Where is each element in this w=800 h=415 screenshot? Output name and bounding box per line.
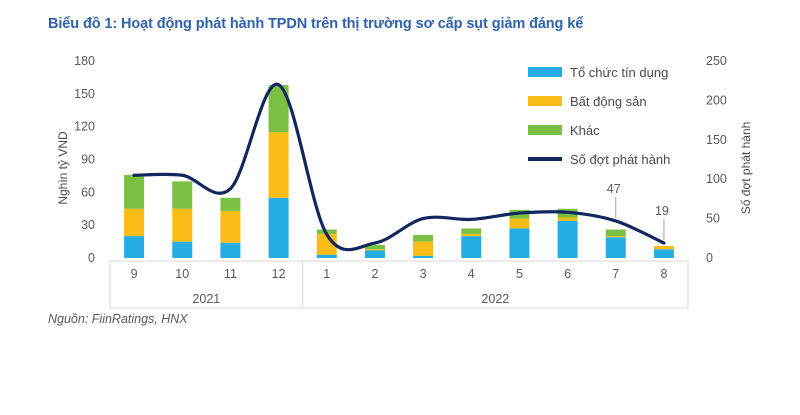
bar-segment[interactable] [654, 249, 674, 258]
legend-item[interactable]: Số đợt phát hành [528, 152, 670, 167]
legend-label: Tổ chức tín dụng [570, 65, 668, 80]
bar-segment[interactable] [269, 132, 289, 198]
bar-segment[interactable] [172, 181, 192, 208]
legend: Tổ chức tín dụngBất động sảnKhácSố đợt p… [528, 65, 670, 167]
bar-segment[interactable] [172, 209, 192, 242]
chart-root: Biểu đồ 1: Hoạt động phát hành TPDN trên… [0, 0, 800, 415]
category-label: 12 [272, 267, 286, 281]
bar-group[interactable] [220, 198, 240, 258]
category-label: 5 [516, 267, 523, 281]
bar-segment[interactable] [269, 198, 289, 258]
bar-segment[interactable] [461, 228, 481, 233]
category-label: 8 [660, 267, 667, 281]
chart-canvas: 4719 1801501209060300Nghìn tỷ VND 250200… [0, 0, 800, 415]
bar-segment[interactable] [509, 219, 529, 229]
legend-color-swatch [528, 96, 562, 106]
category-label: 11 [224, 267, 237, 281]
bar-group[interactable] [124, 175, 144, 258]
bar-segment[interactable] [461, 234, 481, 236]
bar-segment[interactable] [558, 218, 578, 221]
bar-group[interactable] [461, 228, 481, 258]
category-label: 3 [420, 267, 427, 281]
bar-segment[interactable] [413, 235, 433, 242]
year-group-label: 2021 [192, 292, 220, 306]
plot-area: 4719 1801501209060300Nghìn tỷ VND 250200… [0, 0, 800, 415]
bar-segment[interactable] [413, 242, 433, 256]
bar-segment[interactable] [413, 256, 433, 258]
left-axis-tick: 0 [88, 251, 95, 265]
legend-item[interactable]: Tổ chức tín dụng [528, 65, 668, 80]
bar-segment[interactable] [220, 243, 240, 258]
bar-group[interactable] [172, 181, 192, 258]
category-label: 2 [371, 267, 378, 281]
right-axis-tick: 50 [706, 212, 720, 226]
left-axis-title: Nghìn tỷ VND [56, 131, 70, 205]
bar-segment[interactable] [606, 237, 626, 258]
bar-segment[interactable] [220, 211, 240, 243]
left-axis-tick: 90 [81, 153, 95, 167]
bar-segment[interactable] [172, 242, 192, 258]
right-axis-tick: 100 [706, 172, 727, 186]
bar-segment[interactable] [606, 230, 626, 237]
category-label: 7 [612, 267, 619, 281]
bar-group[interactable] [413, 235, 433, 258]
bar-segment[interactable] [317, 255, 337, 258]
right-axis-tick: 0 [706, 251, 713, 265]
bar-segment[interactable] [220, 198, 240, 211]
left-axis-tick: 60 [81, 185, 95, 199]
legend-item[interactable]: Bất động sản [528, 94, 647, 109]
bar-group[interactable] [269, 85, 289, 258]
bar-segment[interactable] [509, 228, 529, 258]
left-axis-tick: 120 [74, 120, 95, 134]
legend-line-swatch [528, 157, 562, 161]
source-note: Nguồn: FiinRatings, HNX [48, 312, 188, 326]
bar-group[interactable] [365, 245, 385, 258]
bar-segment[interactable] [365, 250, 385, 258]
data-label: 19 [655, 204, 669, 218]
right-axis-tick: 150 [706, 133, 727, 147]
bar-group[interactable] [558, 209, 578, 258]
legend-label: Khác [570, 123, 600, 138]
bar-segment[interactable] [124, 175, 144, 209]
legend-label: Số đợt phát hành [570, 152, 670, 167]
right-axis-tick: 250 [706, 54, 727, 68]
legend-color-swatch [528, 125, 562, 135]
bar-segment[interactable] [461, 236, 481, 258]
bar-group[interactable] [654, 246, 674, 258]
legend-color-swatch [528, 67, 562, 77]
category-label: 4 [468, 267, 475, 281]
legend-item[interactable]: Khác [528, 123, 600, 138]
data-label: 47 [607, 182, 621, 196]
right-axis-title: Số đợt phát hành [739, 122, 753, 215]
bar-segment[interactable] [606, 236, 626, 237]
legend-label: Bất động sản [570, 94, 647, 109]
year-group-label: 2022 [481, 292, 509, 306]
bar-segment[interactable] [124, 209, 144, 236]
right-axis: 250200150100500Số đợt phát hành [706, 54, 753, 265]
category-axis: 91011121234567820212022 [110, 261, 688, 308]
bar-segment[interactable] [654, 246, 674, 249]
category-label: 10 [175, 267, 189, 281]
category-label: 9 [131, 267, 138, 281]
left-axis: 1801501209060300Nghìn tỷ VND [56, 54, 95, 265]
bar-segment[interactable] [365, 249, 385, 250]
left-axis-tick: 180 [74, 54, 95, 68]
category-label: 1 [323, 267, 330, 281]
right-axis-tick: 200 [706, 93, 727, 107]
bar-segment[interactable] [124, 236, 144, 258]
category-label: 6 [564, 267, 571, 281]
bar-group[interactable] [606, 230, 626, 258]
left-axis-tick: 30 [81, 218, 95, 232]
bar-group[interactable] [509, 210, 529, 258]
left-axis-tick: 150 [74, 87, 95, 101]
bar-segment[interactable] [558, 221, 578, 258]
